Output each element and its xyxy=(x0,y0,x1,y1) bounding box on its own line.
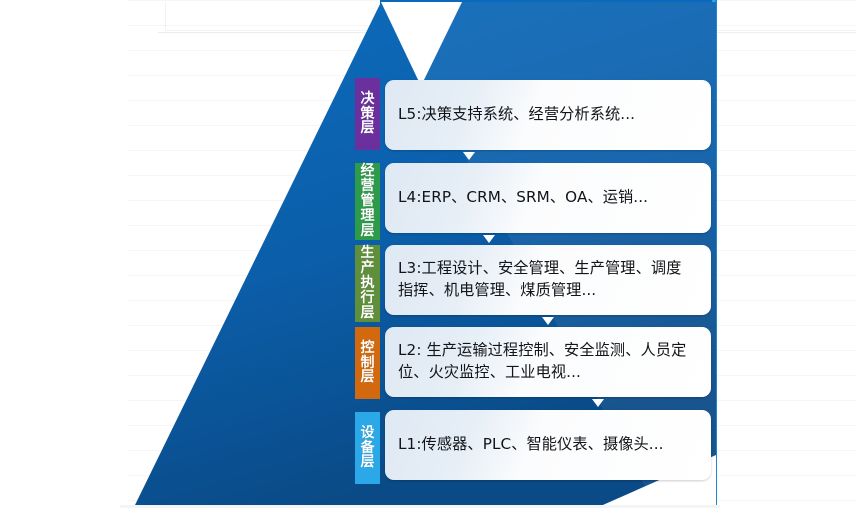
layer-tab-char: 理 xyxy=(361,209,375,224)
flow-arrow-down xyxy=(592,399,604,407)
layer-card-L5[interactable]: L5:决策支持系统、经营分析系统... xyxy=(385,80,711,150)
layer-card-L2[interactable]: L2: 生产运输过程控制、安全监测、人员定 位、火灾监控、工业电视... xyxy=(385,327,711,397)
flow-arrow-down xyxy=(542,317,554,325)
flow-arrow-down xyxy=(483,235,495,243)
layer-tab-L2[interactable]: 控 制 层 xyxy=(355,327,380,399)
layer-card-text: L2: 生产运输过程控制、安全监测、人员定 位、火灾监控、工业电视... xyxy=(398,340,686,383)
layer-card-L1[interactable]: L1:传感器、PLC、智能仪表、摄像头... xyxy=(385,410,711,480)
layer-card-L3[interactable]: L3:工程设计、安全管理、生产管理、调度 指挥、机电管理、煤质管理... xyxy=(385,245,711,315)
layer-tab-L5[interactable]: 决 策 层 xyxy=(355,78,380,150)
layer-tab-char: 控 xyxy=(361,341,375,356)
layer-card-L4[interactable]: L4:ERP、CRM、SRM、OA、运销... xyxy=(385,163,711,233)
layer-tab-char: 管 xyxy=(361,194,375,209)
layer-tab-char: 层 xyxy=(361,121,375,136)
layer-tab-char: 层 xyxy=(361,455,375,470)
layer-tab-char: 设 xyxy=(361,426,375,441)
layer-tab-char: 行 xyxy=(361,291,375,306)
layer-card-text: L4:ERP、CRM、SRM、OA、运销... xyxy=(398,187,648,209)
layer-card-text: L5:决策支持系统、经营分析系统... xyxy=(398,104,635,126)
layer-card-text: L1:传感器、PLC、智能仪表、摄像头... xyxy=(398,434,664,456)
layer-tab-char: 产 xyxy=(361,261,375,276)
layer-tab-char: 层 xyxy=(361,224,375,239)
layer-tab-char: 执 xyxy=(361,276,375,291)
layer-tab-char: 层 xyxy=(361,306,375,321)
layer-tab-L1[interactable]: 设 备 层 xyxy=(355,412,380,484)
layer-card-line: L5:决策支持系统、经营分析系统... xyxy=(398,104,635,126)
layer-tab-char: 决 xyxy=(361,92,375,107)
layer-card-line: 指挥、机电管理、煤质管理... xyxy=(398,280,681,302)
diagram-canvas: 决 策 层 L5:决策支持系统、经营分析系统... 经 营 管 理 层 L4:E… xyxy=(0,0,856,514)
layer-tab-char: 层 xyxy=(361,370,375,385)
layer-tab-char: 营 xyxy=(361,179,375,194)
layer-card-line: L2: 生产运输过程控制、安全监测、人员定 xyxy=(398,340,686,362)
flow-arrow-down xyxy=(463,152,475,160)
layer-card-line: L3:工程设计、安全管理、生产管理、调度 xyxy=(398,258,681,280)
layer-tab-L4[interactable]: 经 营 管 理 层 xyxy=(355,163,380,240)
layer-card-line: L1:传感器、PLC、智能仪表、摄像头... xyxy=(398,434,664,456)
layer-card-text: L3:工程设计、安全管理、生产管理、调度 指挥、机电管理、煤质管理... xyxy=(398,258,681,301)
layer-card-line: 位、火灾监控、工业电视... xyxy=(398,362,686,384)
layer-card-line: L4:ERP、CRM、SRM、OA、运销... xyxy=(398,187,648,209)
layer-tab-L3[interactable]: 生 产 执 行 层 xyxy=(355,245,380,322)
